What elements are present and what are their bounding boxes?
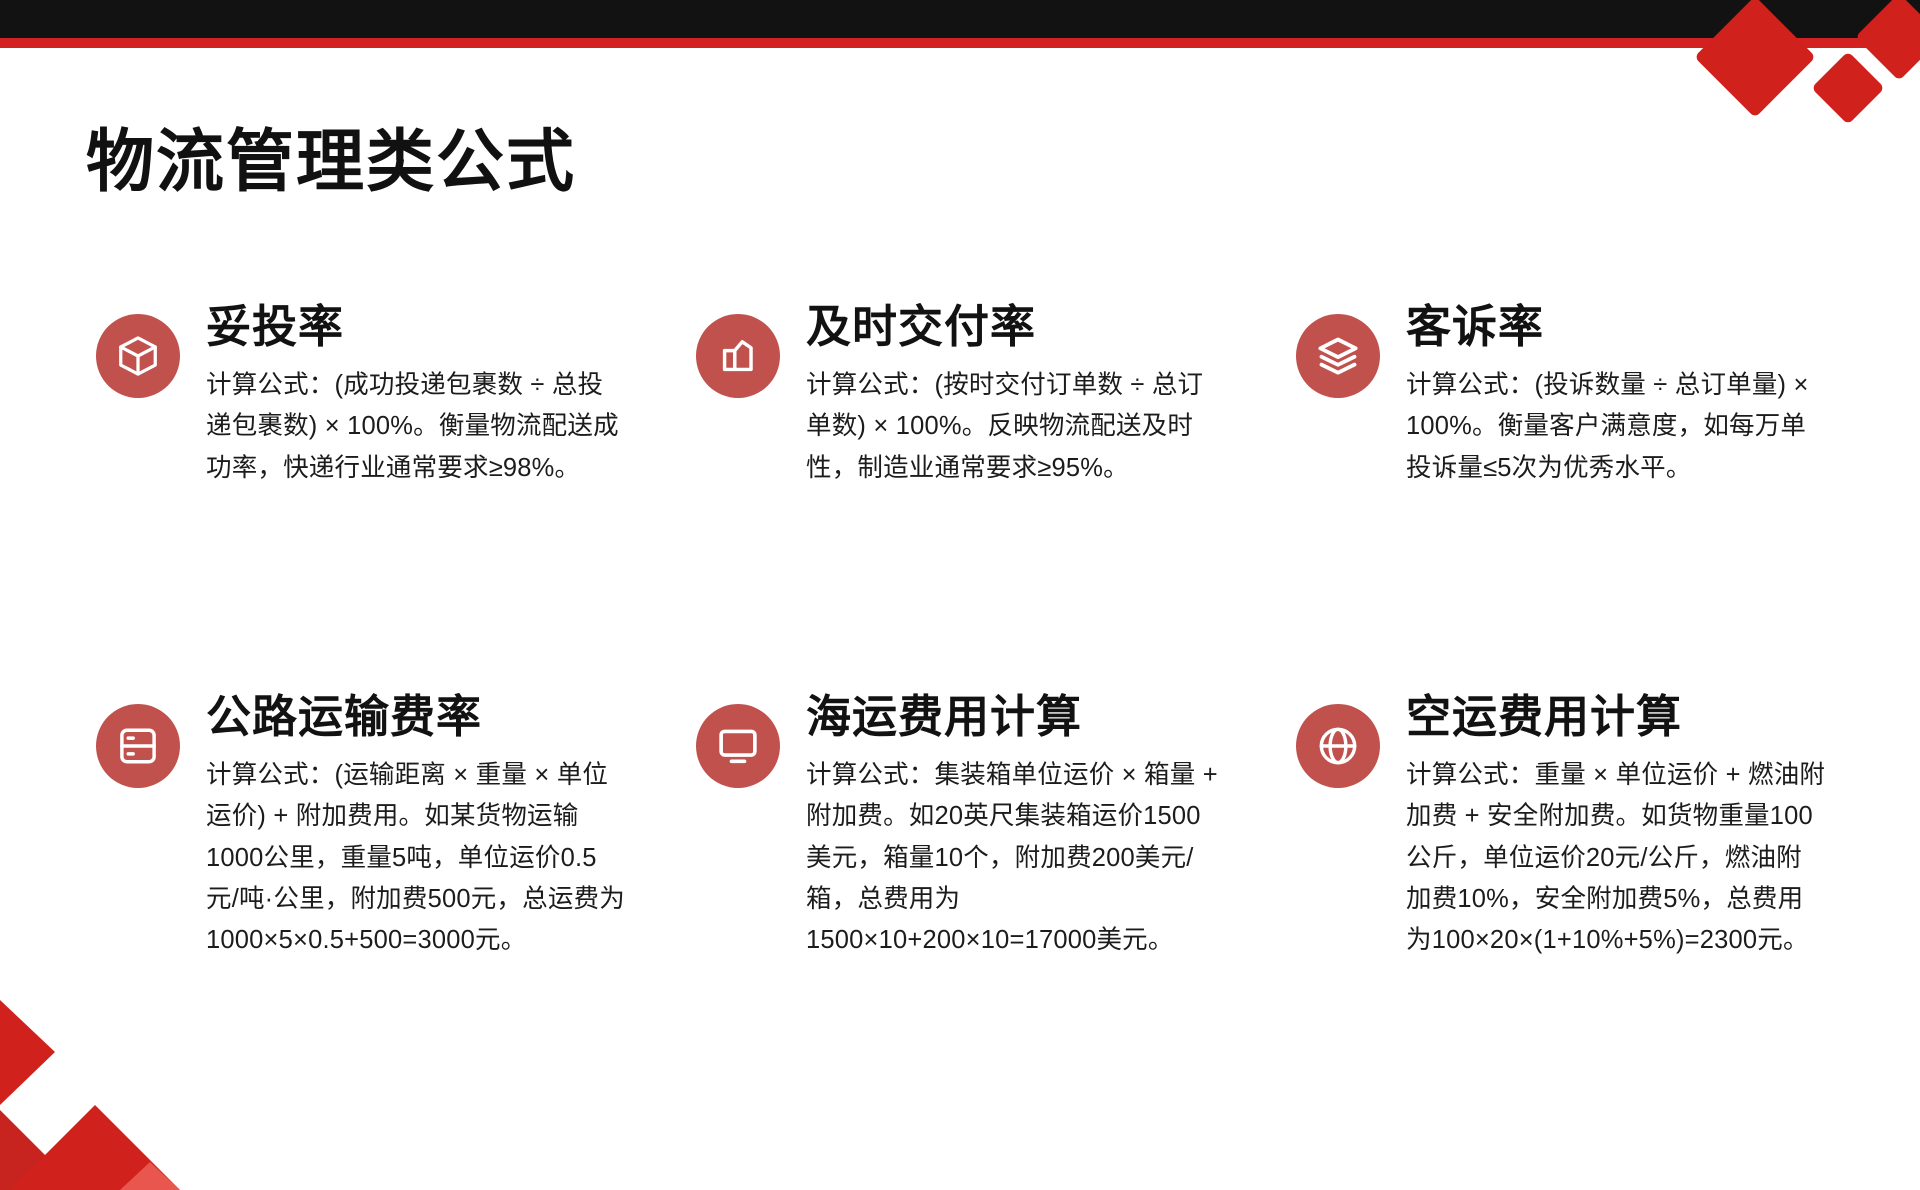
box-3d-icon — [96, 314, 180, 398]
top-black-bar — [0, 0, 1920, 38]
diamond-shape-small — [1811, 51, 1885, 125]
card-description: 计算公式：(运输距离 × 重量 × 单位运价) + 附加费用。如某货物运输100… — [206, 755, 626, 961]
formula-card[interactable]: 妥投率 计算公式：(成功投递包裹数 ÷ 总投递包裹数) × 100%。衡量物流配… — [96, 298, 656, 688]
card-description: 计算公式：集装箱单位运价 × 箱量 + 附加费。如20英尺集装箱运价1500美元… — [806, 755, 1226, 961]
card-description: 计算公式：(成功投递包裹数 ÷ 总投递包裹数) × 100%。衡量物流配送成功率… — [206, 365, 626, 489]
card-body: 空运费用计算 计算公式：重量 × 单位运价 + 燃油附加费 + 安全附加费。如货… — [1406, 688, 1856, 962]
layers-icon — [1296, 314, 1380, 398]
globe-icon — [1296, 704, 1380, 788]
card-description: 计算公式：(投诉数量 ÷ 总订单量) × 100%。衡量客户满意度，如每万单投诉… — [1406, 365, 1826, 489]
card-title: 公路运输费率 — [206, 690, 656, 743]
formula-card[interactable]: 及时交付率 计算公式：(按时交付订单数 ÷ 总订单数) × 100%。反映物流配… — [696, 298, 1256, 688]
bar-building-icon — [696, 314, 780, 398]
formula-card-grid: 妥投率 计算公式：(成功投递包裹数 ÷ 总投递包裹数) × 100%。衡量物流配… — [96, 298, 1856, 1078]
monitor-icon — [696, 704, 780, 788]
card-body: 海运费用计算 计算公式：集装箱单位运价 × 箱量 + 附加费。如20英尺集装箱运… — [806, 688, 1256, 962]
formula-card[interactable]: 公路运输费率 计算公式：(运输距离 × 重量 × 单位运价) + 附加费用。如某… — [96, 688, 656, 1078]
slide-root: 物流管理类公式 妥投率 计算公式：(成功投递包裹数 ÷ 总投递包裹数) × 10… — [0, 0, 1920, 1190]
server-icon — [96, 704, 180, 788]
formula-card[interactable]: 客诉率 计算公式：(投诉数量 ÷ 总订单量) × 100%。衡量客户满意度，如每… — [1296, 298, 1856, 688]
card-description: 计算公式：重量 × 单位运价 + 燃油附加费 + 安全附加费。如货物重量100公… — [1406, 755, 1826, 961]
card-title: 空运费用计算 — [1406, 690, 1856, 743]
page-title: 物流管理类公式 — [86, 128, 576, 196]
top-accent-bar — [0, 38, 1920, 48]
card-body: 公路运输费率 计算公式：(运输距离 × 重量 × 单位运价) + 附加费用。如某… — [206, 688, 656, 962]
formula-card[interactable]: 空运费用计算 计算公式：重量 × 单位运价 + 燃油附加费 + 安全附加费。如货… — [1296, 688, 1856, 1078]
card-title: 及时交付率 — [806, 300, 1256, 353]
card-title: 客诉率 — [1406, 300, 1856, 353]
formula-card[interactable]: 海运费用计算 计算公式：集装箱单位运价 × 箱量 + 附加费。如20英尺集装箱运… — [696, 688, 1256, 1078]
card-body: 客诉率 计算公式：(投诉数量 ÷ 总订单量) × 100%。衡量客户满意度，如每… — [1406, 298, 1856, 489]
card-title: 妥投率 — [206, 300, 656, 353]
card-description: 计算公式：(按时交付订单数 ÷ 总订单数) × 100%。反映物流配送及时性，制… — [806, 365, 1226, 489]
card-title: 海运费用计算 — [806, 690, 1256, 743]
card-body: 及时交付率 计算公式：(按时交付订单数 ÷ 总订单数) × 100%。反映物流配… — [806, 298, 1256, 489]
card-body: 妥投率 计算公式：(成功投递包裹数 ÷ 总投递包裹数) × 100%。衡量物流配… — [206, 298, 656, 489]
top-right-diamond-decoration — [1690, 40, 1920, 150]
